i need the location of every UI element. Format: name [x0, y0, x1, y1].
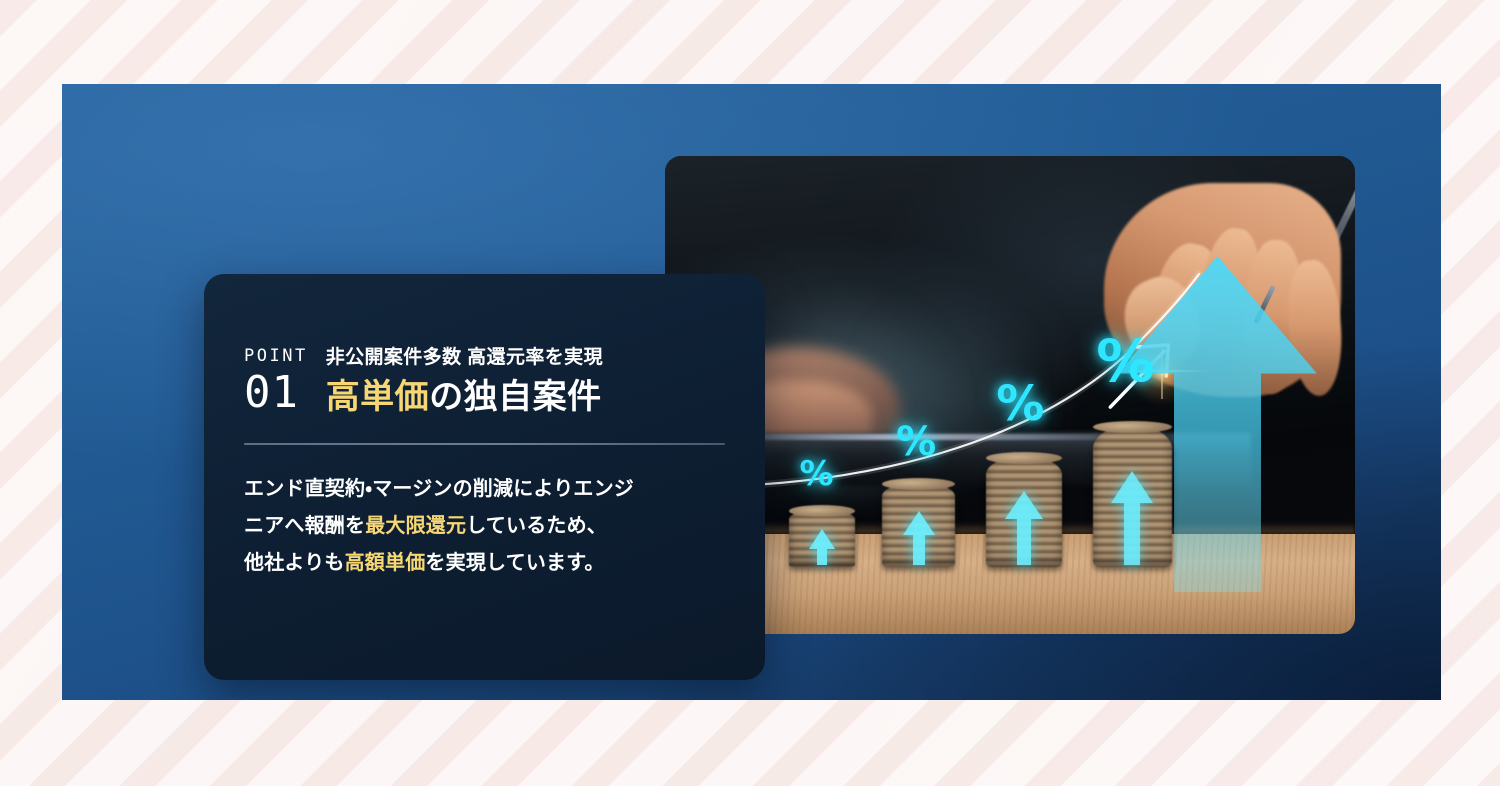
- coin-top: [789, 505, 855, 517]
- card-body-line: 他社よりも高額単価を実現しています。: [244, 545, 725, 582]
- card-title-highlight: 高単価: [326, 378, 430, 416]
- body-text-highlight: 高額単価: [345, 552, 426, 574]
- point-label: POINT: [244, 348, 308, 365]
- coin-top: [1093, 421, 1172, 433]
- body-text-highlight: 最大限還元: [365, 515, 466, 537]
- coin-up-arrow-icon: [1004, 489, 1044, 565]
- percent-symbol: %: [800, 457, 834, 491]
- percent-symbol: %: [1096, 332, 1154, 390]
- percent-symbol: %: [896, 422, 936, 462]
- body-text-segment: しているため、: [466, 515, 607, 537]
- title-block: 非公開案件多数 高還元率を実現 高単価の独自案件: [326, 346, 725, 418]
- coin-top: [986, 452, 1062, 464]
- point-card: POINT 01 非公開案件多数 高還元率を実現 高単価の独自案件 エンド直契約…: [204, 274, 765, 680]
- coin-stack: [986, 457, 1062, 567]
- percent-symbol: %: [996, 380, 1044, 428]
- card-divider: [244, 443, 725, 445]
- coin-stack: [882, 483, 954, 567]
- card-title: 高単価の独自案件: [326, 377, 725, 418]
- coin-stack: [1093, 426, 1172, 567]
- card-body-line: エンド直契約・マージンの削減によりエンジ: [244, 471, 725, 508]
- body-text-segment: エンド直契約・マージンの削減によりエンジ: [244, 478, 634, 500]
- card-body-line: ニアへ報酬を最大限還元しているため、: [244, 508, 725, 545]
- body-text-segment: を実現しています。: [425, 552, 604, 574]
- point-number: 01: [244, 370, 308, 416]
- coin-up-arrow-icon: [902, 509, 936, 565]
- card-subtitle: 非公開案件多数 高還元率を実現: [326, 347, 725, 370]
- point-badge: POINT 01: [244, 346, 308, 416]
- coin-up-arrow-icon: [1110, 469, 1154, 565]
- coin-top: [882, 478, 954, 490]
- photo-scene: % % % % %: [665, 156, 1355, 634]
- feature-panel: % % % % % POINT 01 非公開案件多数 高還元率を実現 高単価の独…: [62, 84, 1441, 700]
- body-text-segment: ニアへ報酬を: [244, 515, 365, 537]
- hero-photo: % % % % %: [665, 156, 1355, 634]
- coin-stack: [789, 510, 855, 567]
- body-text-segment: 他社よりも: [244, 552, 345, 574]
- coin-up-arrow-icon: [808, 527, 836, 565]
- card-header: POINT 01 非公開案件多数 高還元率を実現 高単価の独自案件: [244, 346, 725, 418]
- card-body: エンド直契約・マージンの削減によりエンジ ニアへ報酬を最大限還元しているため、 …: [244, 471, 725, 582]
- card-title-rest: の独自案件: [429, 378, 602, 416]
